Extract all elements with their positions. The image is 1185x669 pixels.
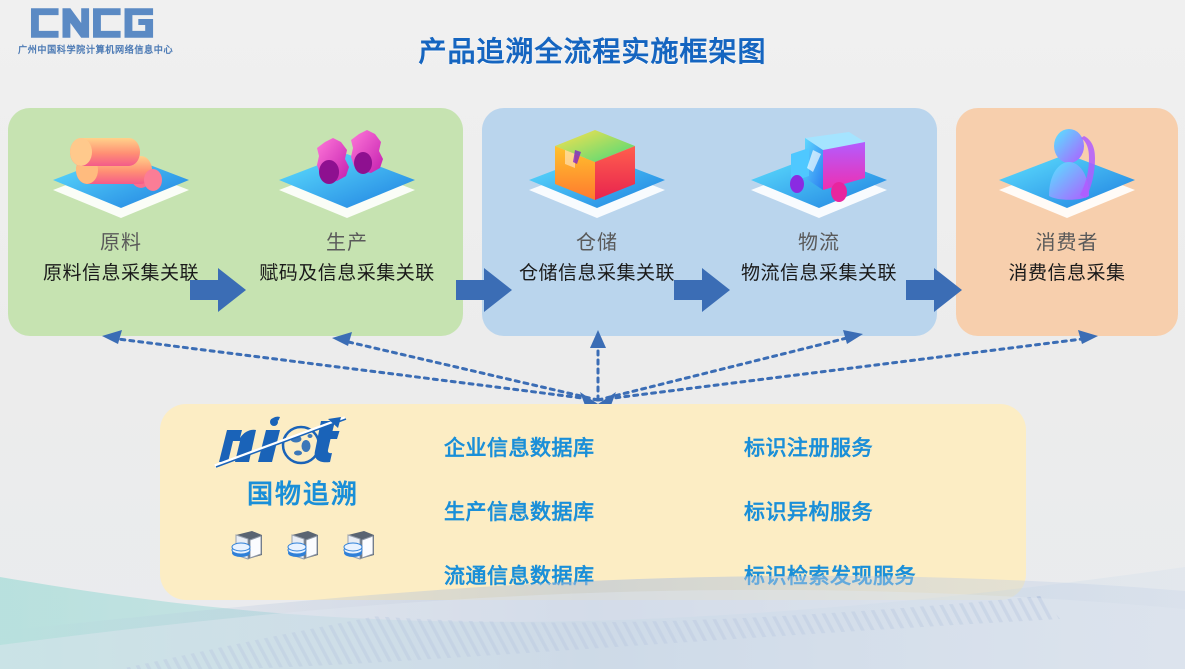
stage-consumer[interactable]: 消费者 消费信息采集	[956, 108, 1178, 336]
stage-description: 物流信息采集关联	[708, 263, 930, 285]
stage-logistics[interactable]: 物流 物流信息采集关联	[708, 108, 930, 336]
gears-icon	[236, 116, 458, 234]
stage-name: 原料	[10, 232, 232, 254]
database-server-icon	[342, 529, 376, 561]
stage-name: 生产	[236, 232, 458, 254]
database-icon-group	[178, 529, 428, 561]
database-server-icon	[286, 529, 320, 561]
process-flow: 原料 原料信息采集关联	[8, 108, 1178, 336]
package-box-icon	[486, 116, 708, 234]
arrow-right-icon	[906, 268, 962, 312]
database-item[interactable]: 企业信息数据库	[444, 432, 708, 462]
raw-material-icon	[10, 116, 232, 234]
niot-logo-icon	[210, 416, 360, 468]
stage-name: 仓储	[486, 232, 708, 254]
delivery-truck-icon	[708, 116, 930, 234]
database-server-icon	[230, 529, 264, 561]
stage-description: 赋码及信息采集关联	[236, 263, 458, 285]
service-item[interactable]: 标识注册服务	[744, 432, 1013, 462]
stage-production[interactable]: 生产 赋码及信息采集关联	[236, 108, 458, 336]
database-column: 企业信息数据库 生产信息数据库 流通信息数据库	[438, 404, 708, 600]
brand-name: 国物追溯	[178, 474, 428, 511]
database-item[interactable]: 生产信息数据库	[444, 496, 708, 526]
platform-panel: 国物追溯	[160, 404, 1026, 600]
slide-canvas: 广州中国科学院计算机网络信息中心 产品追溯全流程实施框架图	[0, 0, 1185, 669]
stage-name: 物流	[708, 232, 930, 254]
page-title: 产品追溯全流程实施框架图	[0, 30, 1185, 70]
database-item[interactable]: 流通信息数据库	[444, 560, 708, 590]
stage-name: 消费者	[956, 232, 1178, 254]
service-column: 标识注册服务 标识异构服务 标识检索发现服务	[738, 404, 1013, 600]
stage-description: 消费信息采集	[956, 263, 1178, 285]
service-item[interactable]: 标识检索发现服务	[744, 560, 1013, 590]
consumer-person-icon	[956, 116, 1178, 234]
brand-column: 国物追溯	[178, 404, 428, 600]
dotted-arrow	[102, 330, 1098, 408]
service-item[interactable]: 标识异构服务	[744, 496, 1013, 526]
